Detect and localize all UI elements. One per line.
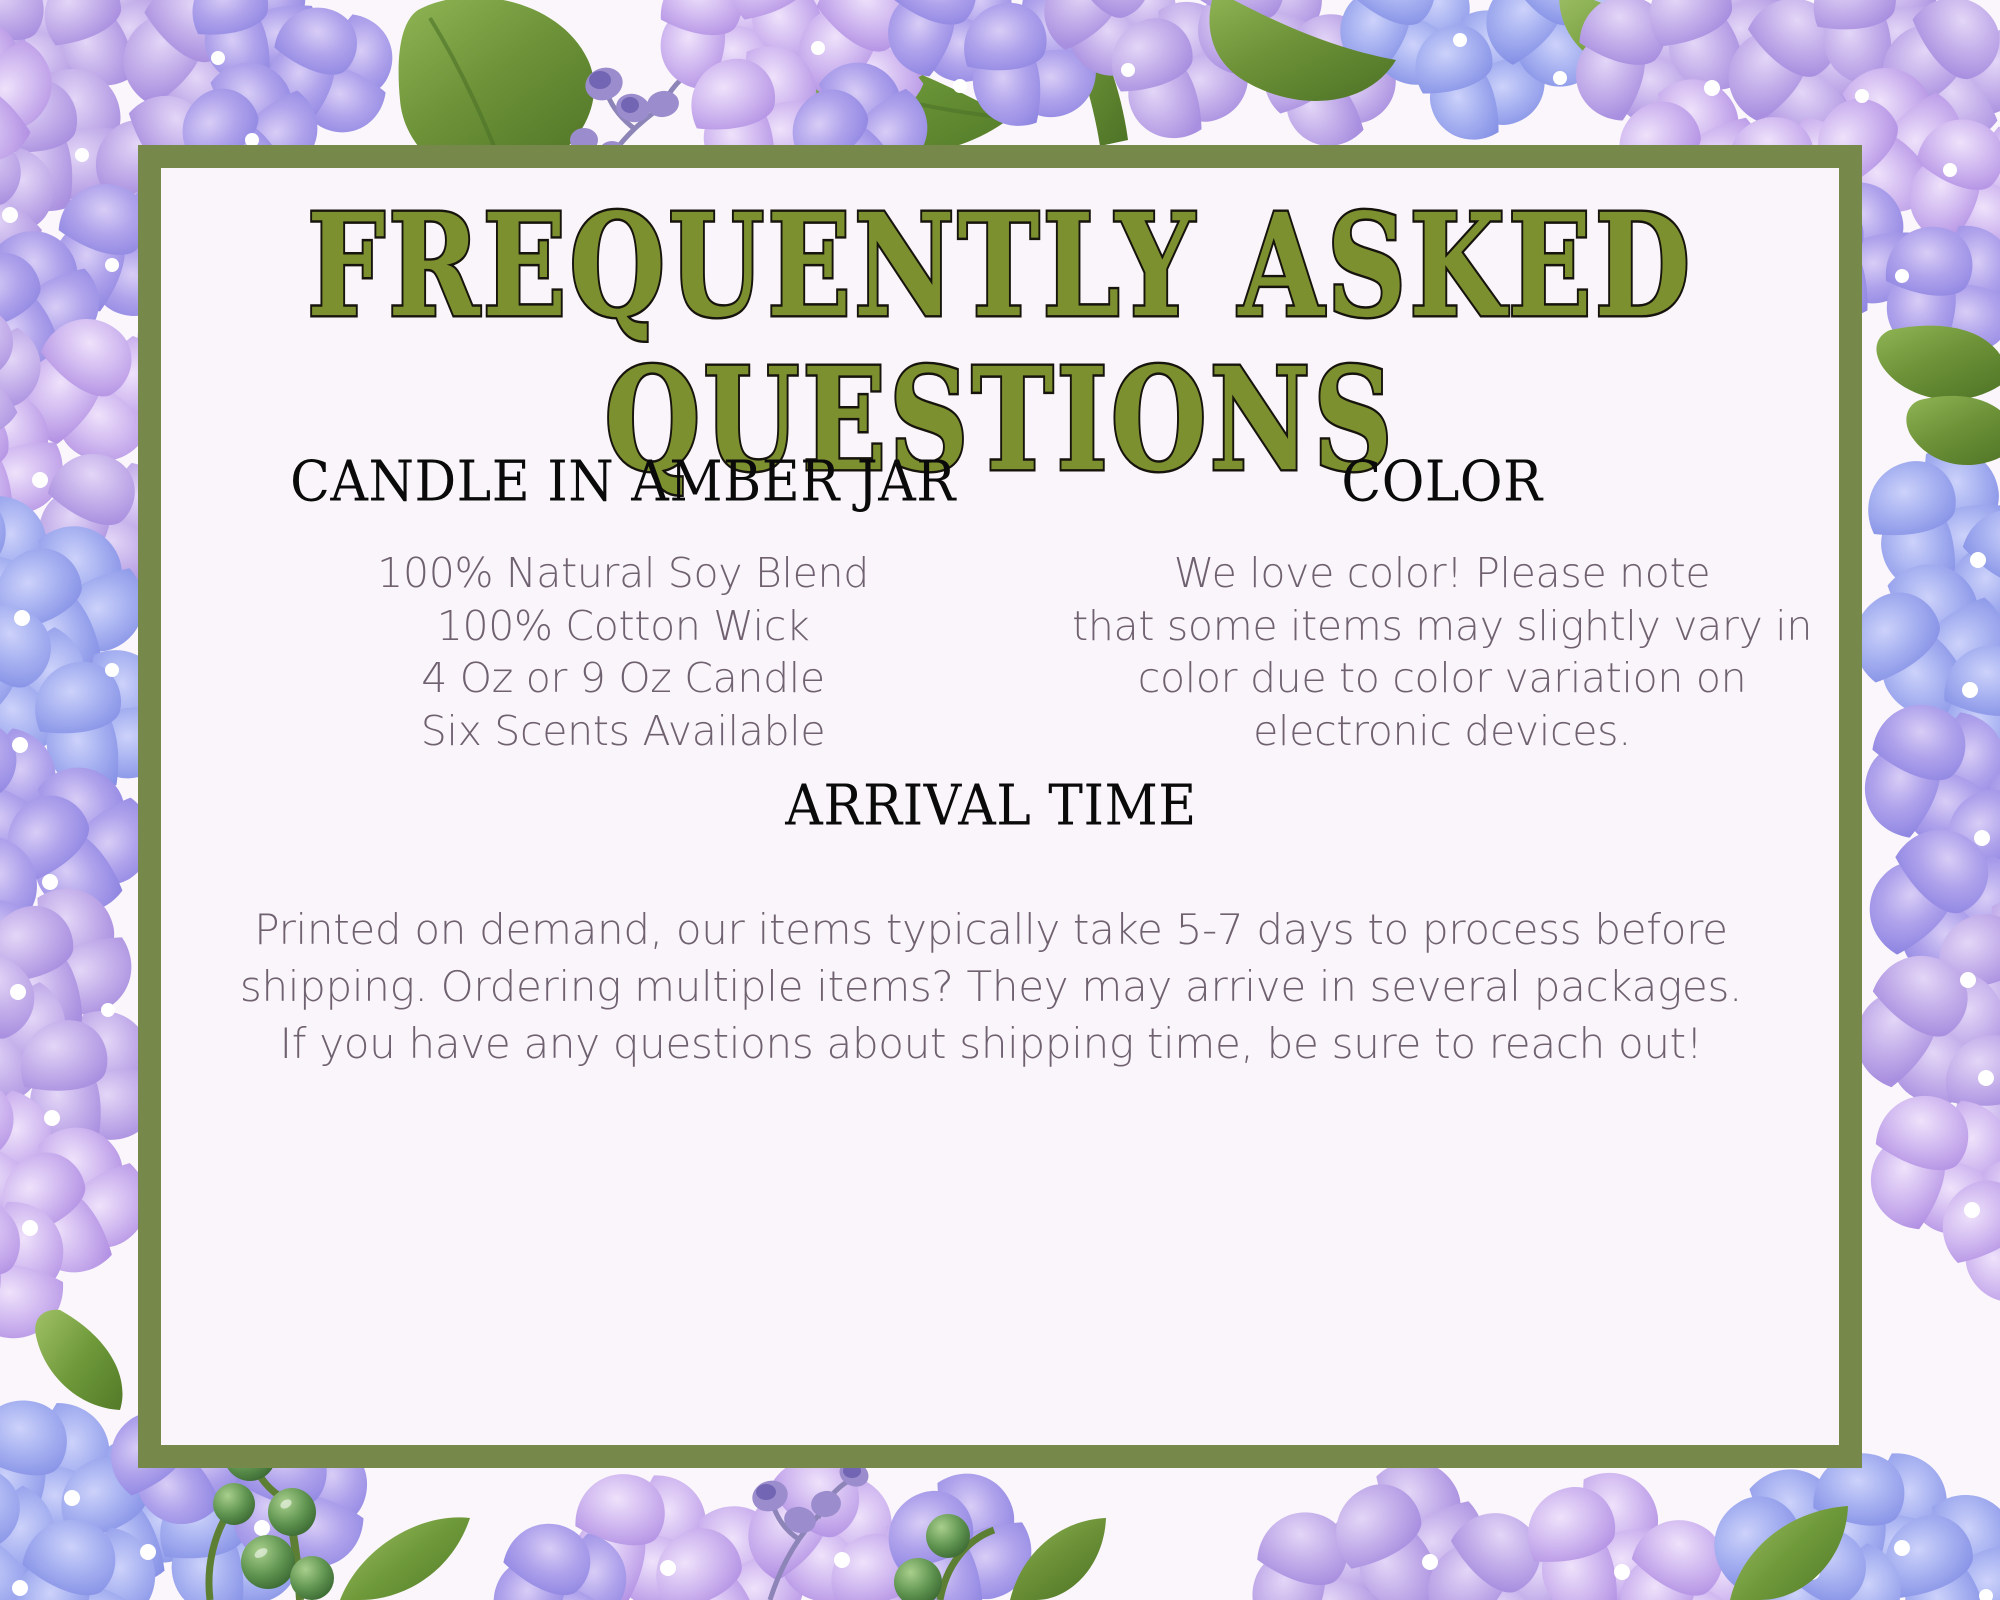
section-heading-candle: Candle In Amber Jar bbox=[179, 452, 1067, 514]
body-line: 100% Natural Soy Blend bbox=[179, 547, 1067, 599]
faq-columns: Candle In Amber Jar 100% Natural Soy Ble… bbox=[161, 454, 1839, 757]
section-heading-arrival: Arrival Time bbox=[161, 776, 1821, 838]
faq-section-candle: Candle In Amber Jar 100% Natural Soy Ble… bbox=[161, 454, 1067, 757]
body-line: We love color! Please note bbox=[1067, 547, 1817, 599]
faq-poster: Frequently Asked Questions Candle In Amb… bbox=[0, 0, 2000, 1600]
body-line: that some items may slightly vary in bbox=[1067, 600, 1817, 652]
section-body-color: We love color! Please note that some ite… bbox=[1067, 547, 1817, 757]
section-body-candle: 100% Natural Soy Blend 100% Cotton Wick … bbox=[179, 547, 1067, 757]
section-body-arrival: Printed on demand, our items typically t… bbox=[161, 901, 1821, 1072]
content-frame: Frequently Asked Questions Candle In Amb… bbox=[138, 145, 1862, 1468]
faq-section-color: Color We love color! Please note that so… bbox=[1067, 454, 1839, 757]
body-line: 100% Cotton Wick bbox=[179, 600, 1067, 652]
body-line: If you have any questions about shipping… bbox=[161, 1015, 1821, 1072]
body-line: Printed on demand, our items typically t… bbox=[161, 901, 1821, 958]
body-line: electronic devices. bbox=[1067, 705, 1817, 757]
body-line: color due to color variation on bbox=[1067, 652, 1817, 704]
body-line: shipping. Ordering multiple items? They … bbox=[161, 958, 1821, 1015]
body-line: Six Scents Available bbox=[179, 705, 1067, 757]
faq-section-arrival: Arrival Time Printed on demand, our item… bbox=[161, 778, 1839, 1073]
page-title: Frequently Asked Questions bbox=[161, 176, 1839, 479]
body-line: 4 Oz or 9 Oz Candle bbox=[179, 652, 1067, 704]
frame-inner-surface: Frequently Asked Questions Candle In Amb… bbox=[161, 168, 1839, 1445]
section-heading-color: Color bbox=[1067, 452, 1817, 514]
